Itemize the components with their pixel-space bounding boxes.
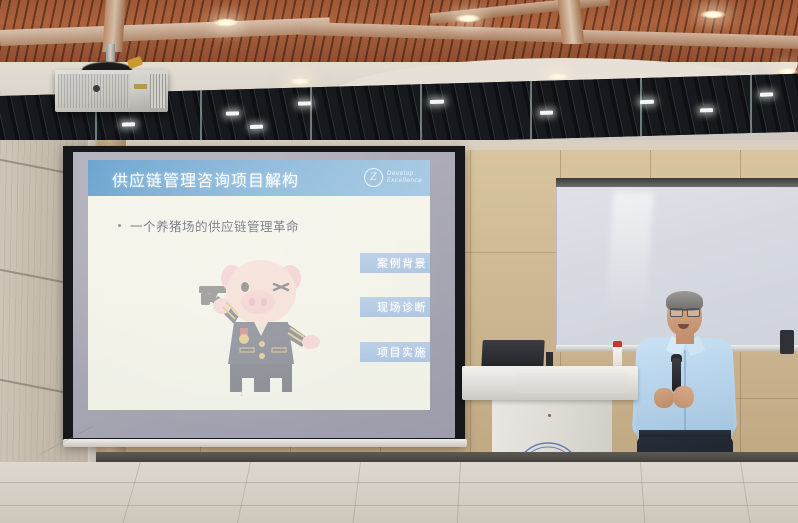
whiteboard-top-rail [556, 178, 798, 187]
recessed-light [548, 73, 568, 80]
slide-nav-button-1[interactable]: 案例背景 [360, 253, 430, 273]
logo-z-mark: Z [364, 168, 383, 187]
slide-title: 供应链管理咨询项目解构 [112, 167, 299, 191]
projector-label [134, 84, 147, 89]
laptop [481, 340, 544, 368]
logo-line-2: Excellence [387, 178, 422, 185]
slide-page-number: 1 [240, 392, 243, 398]
lecture-hall-photo: 供应链管理咨询项目解构 Z Develop Excellence 一个养猪场的供… [0, 0, 798, 523]
pig-officer-mascot [196, 252, 328, 402]
water-bottle [613, 345, 622, 367]
floor [0, 462, 798, 523]
whiteboard-glare [607, 192, 653, 312]
brand-logo: Z Develop Excellence [364, 168, 422, 187]
podium-top-inset [516, 373, 628, 393]
slide-nav-button-3[interactable]: 项目实施 [360, 342, 430, 362]
recessed-light [455, 14, 481, 23]
recessed-light [213, 18, 239, 27]
recessed-light [700, 10, 726, 19]
podium-indicator-light [548, 414, 551, 417]
logo-text: Develop Excellence [387, 171, 422, 184]
slide-bullet: 一个养猪场的供应链管理革命 [118, 216, 299, 235]
wall-fixture [780, 330, 794, 354]
bullet-dot-icon [118, 224, 121, 227]
slide-nav-button-2[interactable]: 现场诊断 [360, 297, 430, 317]
glasses-bridge [670, 309, 699, 316]
presenter-hand-right [673, 386, 694, 408]
projector-port [93, 85, 100, 92]
projected-slide: 供应链管理咨询项目解构 Z Develop Excellence 一个养猪场的供… [88, 160, 430, 410]
bottle-cap [613, 341, 622, 347]
ceiling-beam-vertical [558, 0, 585, 44]
projector-vent [150, 74, 166, 108]
slide-bullet-text: 一个养猪场的供应链管理革命 [130, 216, 299, 235]
screen-bottom-bar [63, 439, 467, 447]
presenter-hand-left [654, 388, 674, 408]
recessed-light [290, 78, 310, 85]
